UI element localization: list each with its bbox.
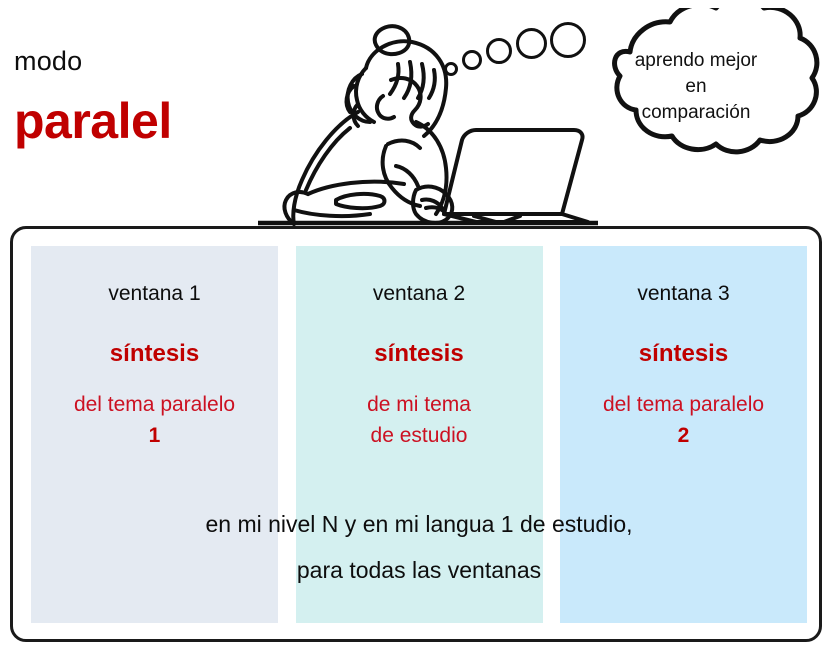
thought-trail xyxy=(444,22,574,84)
column-1-sintesis: síntesis xyxy=(31,340,278,368)
column-2-detail: de mi tema de estudio xyxy=(296,389,543,451)
column-3-sintesis: síntesis xyxy=(560,340,807,368)
column-ventana-1[interactable]: ventana 1 síntesis del tema paralelo 1 xyxy=(31,246,278,623)
thought-dot-2 xyxy=(462,50,482,70)
thought-line-2: en xyxy=(596,74,796,100)
thought-dot-1 xyxy=(444,62,458,76)
windows-panel: ventana 1 síntesis del tema paralelo 1 v… xyxy=(10,226,822,642)
header-zone: modo paralel xyxy=(0,0,834,227)
column-1-detail-line-1: del tema paralelo xyxy=(31,389,278,420)
columns-container: ventana 1 síntesis del tema paralelo 1 v… xyxy=(31,246,807,623)
column-3-title: ventana 3 xyxy=(560,282,807,306)
column-2-detail-line-1: de mi tema xyxy=(296,389,543,420)
mode-title: paralel xyxy=(14,92,172,150)
column-ventana-2[interactable]: ventana 2 síntesis de mi tema de estudio xyxy=(296,246,543,623)
column-ventana-3[interactable]: ventana 3 síntesis del tema paralelo 2 xyxy=(560,246,807,623)
thought-line-1: aprendo mejor xyxy=(596,48,796,74)
column-1-detail-line-2: 1 xyxy=(31,420,278,451)
column-3-detail-line-2: 2 xyxy=(560,420,807,451)
column-2-sintesis: síntesis xyxy=(296,340,543,368)
thought-cloud-icon: aprendo mejor en comparación xyxy=(566,8,828,180)
column-1-detail: del tema paralelo 1 xyxy=(31,389,278,451)
column-1-title: ventana 1 xyxy=(31,282,278,306)
column-2-title: ventana 2 xyxy=(296,282,543,306)
thought-bubble-text: aprendo mejor en comparación xyxy=(596,48,796,126)
mode-label: modo xyxy=(14,46,82,77)
column-3-detail-line-1: del tema paralelo xyxy=(560,389,807,420)
thought-dot-4 xyxy=(516,28,547,59)
column-2-detail-line-2: de estudio xyxy=(296,420,543,451)
thought-dot-3 xyxy=(486,38,512,64)
column-3-detail: del tema paralelo 2 xyxy=(560,389,807,451)
thought-line-3: comparación xyxy=(596,100,796,126)
